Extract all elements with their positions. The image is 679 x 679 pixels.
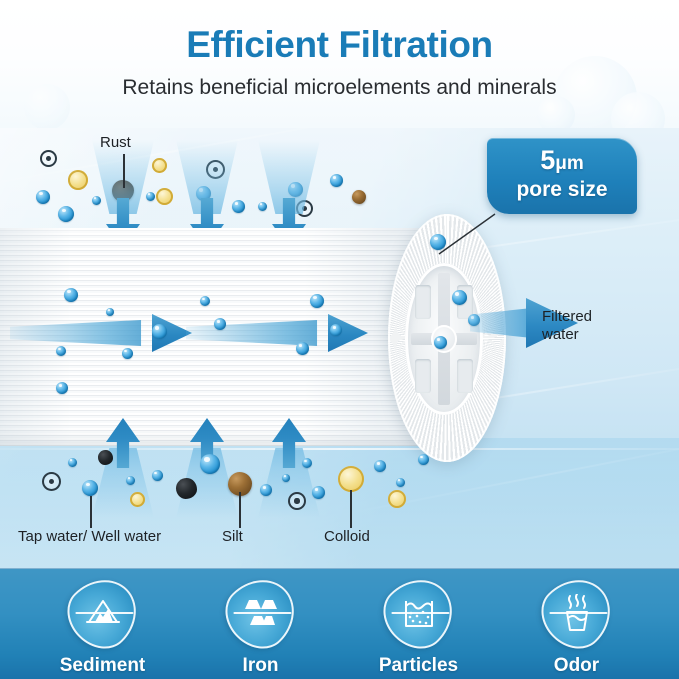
benefits-footer: Sediment Iron <box>0 568 679 679</box>
water-droplet <box>58 206 74 222</box>
benefit-label: Iron <box>206 655 316 677</box>
water-droplet <box>282 474 290 482</box>
water-droplet <box>146 192 155 201</box>
inflow-arrow-up <box>272 418 306 484</box>
droplet-badge <box>54 565 150 661</box>
filtration-diagram: Filtered water 5μm pore size Rust <box>0 128 679 568</box>
pore-size-badge: 5μm pore size <box>487 138 637 214</box>
water-droplet <box>152 324 167 339</box>
water-droplet <box>418 454 429 465</box>
contaminant-particle-silt <box>352 190 366 204</box>
water-droplet <box>330 324 342 336</box>
benefit-item-particles[interactable]: Particles <box>364 579 474 677</box>
water-droplet <box>122 348 133 359</box>
benefit-label: Odor <box>522 655 632 677</box>
core-slot <box>415 285 431 319</box>
callout-tap-well-water: Tap water/ Well water <box>18 528 161 545</box>
water-droplet <box>56 382 68 394</box>
water-droplet <box>200 296 210 306</box>
water-droplet <box>64 288 78 302</box>
leader-line-tap-well <box>90 496 92 528</box>
header-band: Efficient Filtration Retains beneficial … <box>0 0 679 128</box>
benefit-label: Sediment <box>48 655 158 677</box>
contaminant-particle-germ <box>40 150 57 167</box>
benefit-label: Particles <box>364 655 474 677</box>
contaminant-particle-germ <box>42 472 61 491</box>
water-droplet <box>92 196 101 205</box>
droplet-badge <box>528 565 624 661</box>
droplet-badge <box>212 565 308 661</box>
water-droplet <box>214 318 226 330</box>
core-slot <box>415 359 431 393</box>
page-subtitle: Retains beneficial microelements and min… <box>0 76 679 100</box>
water-droplet <box>200 454 220 474</box>
contaminant-particle-colloid <box>388 490 406 508</box>
contaminant-particle-colloid <box>156 188 173 205</box>
benefit-item-iron[interactable]: Iron <box>206 579 316 677</box>
callout-colloid: Colloid <box>324 528 370 545</box>
benefits-list: Sediment Iron <box>0 569 679 677</box>
water-droplet <box>312 486 325 499</box>
arrow-tail <box>470 308 532 338</box>
water-droplet <box>310 294 324 308</box>
strike-through-line <box>549 612 607 614</box>
water-droplet <box>56 346 66 356</box>
water-droplet <box>296 342 309 355</box>
water-droplet <box>302 458 312 468</box>
contaminant-particle-colloid <box>130 492 145 507</box>
contaminant-particle-debris <box>98 450 113 465</box>
water-droplet <box>152 470 163 481</box>
water-droplet <box>232 200 245 213</box>
water-droplet <box>374 460 386 472</box>
water-droplet <box>126 476 135 485</box>
water-droplet <box>396 478 405 487</box>
strike-through-line <box>75 612 133 614</box>
callout-silt: Silt <box>222 528 243 545</box>
inflow-arrow-up <box>190 418 224 484</box>
water-droplet <box>106 308 114 316</box>
water-droplet <box>434 336 447 349</box>
infographic-root: Efficient Filtration Retains beneficial … <box>0 0 679 679</box>
water-droplet <box>258 202 267 211</box>
water-droplet <box>36 190 50 204</box>
contaminant-particle-colloid <box>338 466 364 492</box>
droplet-badge <box>370 565 466 661</box>
inflow-arrow-up <box>106 418 140 484</box>
page-title: Efficient Filtration <box>0 24 679 66</box>
leader-line-colloid <box>350 490 352 528</box>
water-droplet <box>330 174 343 187</box>
water-droplet <box>68 458 77 467</box>
callout-rust: Rust <box>100 134 131 151</box>
badge-leader-line <box>437 212 497 256</box>
water-droplet <box>82 480 98 496</box>
benefit-item-sediment[interactable]: Sediment <box>48 579 158 677</box>
decorative-bubble-icon <box>537 96 575 128</box>
contaminant-particle-debris <box>176 478 197 499</box>
pore-size-caption: pore size <box>487 178 637 202</box>
leader-line-silt <box>239 492 241 528</box>
pore-size-value: 5μm <box>487 147 637 174</box>
water-droplet <box>452 290 467 305</box>
water-droplet <box>260 484 272 496</box>
core-slot <box>457 359 473 393</box>
leader-line-rust <box>123 154 125 188</box>
benefit-item-odor[interactable]: Odor <box>522 579 632 677</box>
callout-filtered-water: Filtered water <box>542 308 592 345</box>
contaminant-particle-colloid <box>68 170 88 190</box>
strike-through-line <box>233 612 291 614</box>
contaminant-particle-colloid <box>152 158 167 173</box>
strike-through-line <box>391 612 449 614</box>
contaminant-particle-germ <box>288 492 306 510</box>
